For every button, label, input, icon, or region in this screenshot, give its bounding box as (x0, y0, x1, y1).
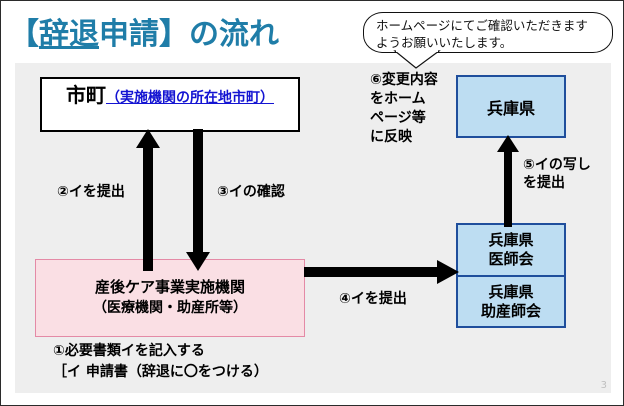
step-5-label: ⑤イの写し を提出 (523, 156, 591, 192)
title-rest-part: 申請】 (99, 17, 189, 52)
step-4-label: ④イを提出 (339, 288, 407, 308)
box-ishikai-line2: 医師会 (488, 250, 533, 269)
box-shicho-main-label: 市町 (66, 79, 106, 108)
box-josanshikai-line2: 助産師会 (481, 302, 541, 321)
arrow-down-icon (185, 129, 211, 271)
arrow-up-icon (496, 135, 520, 227)
box-hyogo-prefecture: 兵庫県 (456, 75, 566, 138)
title-underlined-part: 辞退 (39, 17, 99, 52)
slide-canvas: 【辞退申請】の流れ ホームページにてご確認いただきます ようお願いいたします。 … (0, 0, 624, 406)
box-josanshikai-line1: 兵庫県 (488, 283, 533, 302)
callout-bubble: ホームページにてご確認いただきます ようお願いいたします。 (363, 12, 613, 53)
title-suffix: の流れ (189, 17, 279, 52)
box-ishikai-line1: 兵庫県 (488, 231, 533, 250)
box-hyogo-midwives-association: 兵庫県 助産師会 (456, 275, 566, 328)
box-sango-line2: （医療機関・助産所等） (93, 298, 247, 319)
callout-tail-icon (394, 51, 440, 69)
title-bracket-open: 【 (9, 17, 39, 52)
step-1-label: ①必要書類イを記入する ［イ 申請書（辞退に〇をつける） (53, 341, 268, 383)
step-2-label: ②イを提出 (57, 181, 125, 201)
box-shicho: 市町（実施機関の所在地市町） (40, 77, 300, 132)
page-number: 3 (601, 380, 607, 391)
box-sango-line1: 産後ケア事業実施機関 (95, 277, 245, 298)
arrow-up-icon (135, 129, 161, 271)
arrow-right-icon (304, 259, 459, 285)
box-shicho-sub-label: （実施機関の所在地市町） (106, 87, 274, 107)
box-hyogo-medical-association: 兵庫県 医師会 (456, 223, 566, 275)
box-hyogo-label: 兵庫県 (487, 95, 535, 119)
step-3-label: ③イの確認 (217, 181, 285, 201)
box-postpartum-care-provider: 産後ケア事業実施機関 （医療機関・助産所等） (35, 259, 305, 337)
step-6-label: ⑥変更内容 をホーム ページ等 に反映 (370, 71, 438, 147)
page-title: 【辞退申請】の流れ (9, 9, 279, 53)
